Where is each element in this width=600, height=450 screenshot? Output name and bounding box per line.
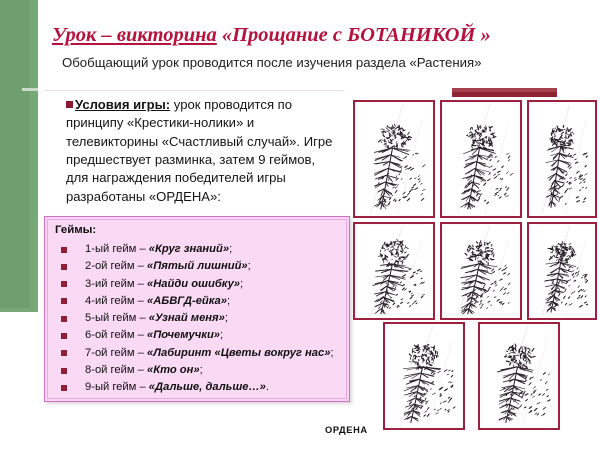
games-list: 1-ый гейм – «Круг знаний»;2-ой гейм – «П… xyxy=(55,241,343,397)
game-name-label: «Дальше, дальше…» xyxy=(149,381,266,393)
award-card xyxy=(353,222,435,320)
award-card xyxy=(440,222,522,320)
award-card-inner xyxy=(357,226,431,316)
green-bar-notch xyxy=(22,88,38,91)
game-name-label: «Лабиринт «Цветы вокруг нас» xyxy=(147,347,330,359)
award-card-sketch xyxy=(357,226,431,316)
game-index-label: 5-ый гейм – xyxy=(85,312,149,324)
award-card-sketch xyxy=(531,104,593,214)
game-suffix-label: ; xyxy=(200,364,203,376)
award-card-inner xyxy=(531,104,593,214)
game-index-label: 9-ый гейм – xyxy=(85,381,149,393)
game-index-label: 4-ий гейм – xyxy=(85,295,147,307)
game-suffix-label: ; xyxy=(330,347,333,359)
game-suffix-label: ; xyxy=(225,312,228,324)
award-card xyxy=(383,322,465,430)
games-panel-title: Геймы: xyxy=(55,224,96,236)
title-block: Урок – викторина «Прощание с БОТАНИКОЙ »… xyxy=(52,24,592,70)
game-suffix-label: ; xyxy=(227,295,230,307)
award-card-inner xyxy=(444,226,518,316)
square-bullet-icon xyxy=(66,101,73,108)
square-bullet-icon xyxy=(61,281,67,287)
slide-canvas: Урок – викторина «Прощание с БОТАНИКОЙ »… xyxy=(0,0,600,450)
game-index-label: 1-ый гейм – xyxy=(85,243,149,255)
square-bullet-icon xyxy=(61,368,67,374)
game-list-item: 4-ий гейм – «АБВГД-ейка»; xyxy=(55,293,343,310)
game-list-item: 8-ой гейм – «Кто он»; xyxy=(55,362,343,379)
award-card xyxy=(527,222,597,320)
left-green-bar-inner xyxy=(0,0,30,308)
page-title: Урок – викторина «Прощание с БОТАНИКОЙ » xyxy=(52,24,592,48)
square-bullet-icon xyxy=(61,264,67,270)
game-index-label: 2-ой гейм – xyxy=(85,260,147,272)
game-suffix-label: ; xyxy=(248,260,251,272)
award-card-sketch xyxy=(482,326,556,426)
page-subtitle: Обобщающий урок проводится после изучени… xyxy=(62,55,592,70)
conditions-paragraph: Условия игры: урок проводится по принцип… xyxy=(66,96,338,206)
award-card-inner xyxy=(444,104,518,214)
square-bullet-icon xyxy=(61,385,67,391)
game-list-item: 9-ый гейм – «Дальше, дальше…». xyxy=(55,379,343,396)
award-card-sketch xyxy=(444,226,518,316)
game-name-label: «Кто он» xyxy=(147,364,200,376)
game-index-label: 3-ий гейм – xyxy=(85,278,147,290)
square-bullet-icon xyxy=(61,247,67,253)
award-card-inner xyxy=(387,326,461,426)
game-list-item: 7-ой гейм – «Лабиринт «Цветы вокруг нас»… xyxy=(55,345,343,362)
game-list-item: 6-ой гейм – «Почемучки»; xyxy=(55,327,343,344)
game-name-label: «Почемучки» xyxy=(147,329,220,341)
award-card xyxy=(353,100,435,218)
award-card-sketch xyxy=(531,226,593,316)
award-card-inner xyxy=(482,326,556,426)
game-name-label: «Узнай меня» xyxy=(149,312,225,324)
page-title-underlined: Урок – викторина xyxy=(52,24,217,46)
conditions-body: урок проводится по принципу «Крестики-но… xyxy=(66,97,332,204)
square-bullet-icon xyxy=(61,333,67,339)
award-card-sketch xyxy=(387,326,461,426)
conditions-heading: Условия игры: xyxy=(75,97,170,112)
game-index-label: 8-ой гейм – xyxy=(85,364,147,376)
game-suffix-label: . xyxy=(266,381,269,393)
award-card-sketch xyxy=(444,104,518,214)
game-name-label: «АБВГД-ейка» xyxy=(147,295,227,307)
game-name-label: «Найди ошибку» xyxy=(147,278,240,290)
page-title-rest: «Прощание с БОТАНИКОЙ » xyxy=(217,24,491,46)
square-bullet-icon xyxy=(61,350,67,356)
award-card-sketch xyxy=(357,104,431,214)
left-green-bar xyxy=(0,0,38,312)
award-card-inner xyxy=(357,104,431,214)
square-bullet-icon xyxy=(61,316,67,322)
game-suffix-label: ; xyxy=(229,243,232,255)
game-suffix-label: ; xyxy=(240,278,243,290)
game-list-item: 1-ый гейм – «Круг знаний»; xyxy=(55,241,343,258)
games-panel: Геймы: 1-ый гейм – «Круг знаний»;2-ой ге… xyxy=(44,216,350,402)
header-divider xyxy=(44,90,344,91)
award-card xyxy=(478,322,560,430)
game-list-item: 3-ий гейм – «Найди ошибку»; xyxy=(55,276,343,293)
square-bullet-icon xyxy=(61,298,67,304)
game-list-item: 5-ый гейм – «Узнай меня»; xyxy=(55,310,343,327)
game-name-label: «Пятый лишний» xyxy=(147,260,248,272)
game-index-label: 6-ой гейм – xyxy=(85,329,147,341)
game-index-label: 7-ой гейм – xyxy=(85,347,147,359)
decorative-red-bar-highlight xyxy=(452,88,557,92)
game-suffix-label: ; xyxy=(220,329,223,341)
award-card xyxy=(440,100,522,218)
awards-caption: ОРДЕНА xyxy=(325,425,368,435)
game-name-label: «Круг знаний» xyxy=(149,243,229,255)
award-card-inner xyxy=(531,226,593,316)
award-card xyxy=(527,100,597,218)
game-list-item: 2-ой гейм – «Пятый лишний»; xyxy=(55,258,343,275)
